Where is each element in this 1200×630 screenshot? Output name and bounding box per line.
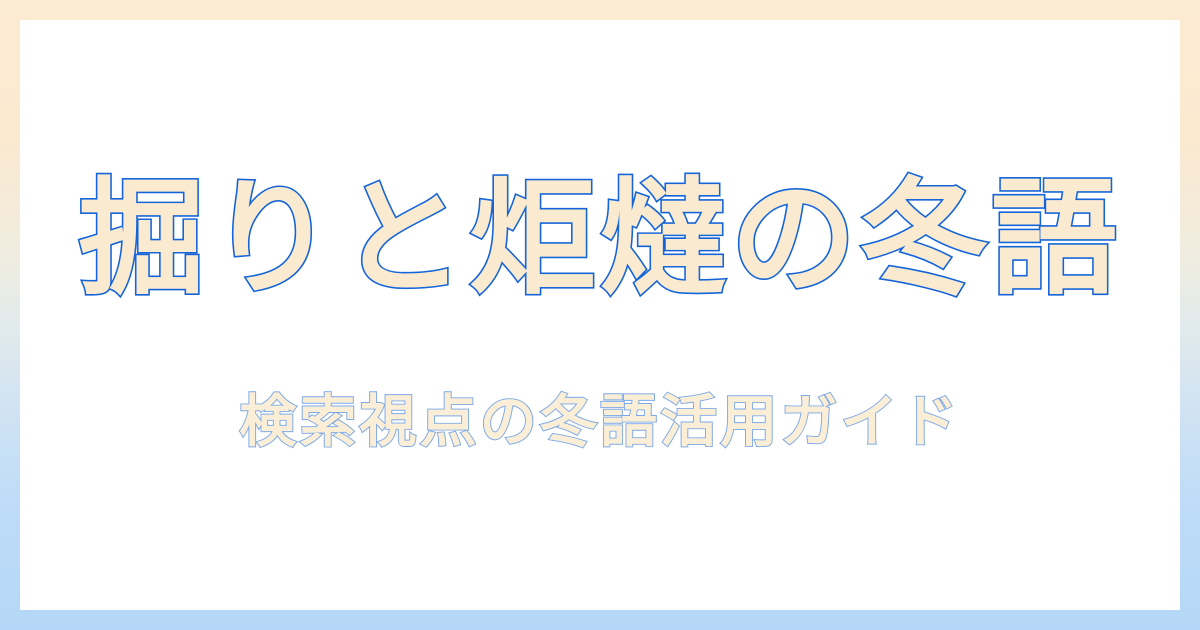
card-inner-plate: 掘りと炬燵の冬語 検索視点の冬語活用ガイド xyxy=(20,20,1180,610)
page-title: 掘りと炬燵の冬語 xyxy=(78,165,1121,314)
ogp-card: 掘りと炬燵の冬語 検索視点の冬語活用ガイド xyxy=(0,0,1200,630)
subtitle-container: 検索視点の冬語活用ガイド xyxy=(20,388,1180,456)
page-subtitle: 検索視点の冬語活用ガイド xyxy=(239,388,961,456)
title-container: 掘りと炬燵の冬語 xyxy=(20,165,1180,314)
